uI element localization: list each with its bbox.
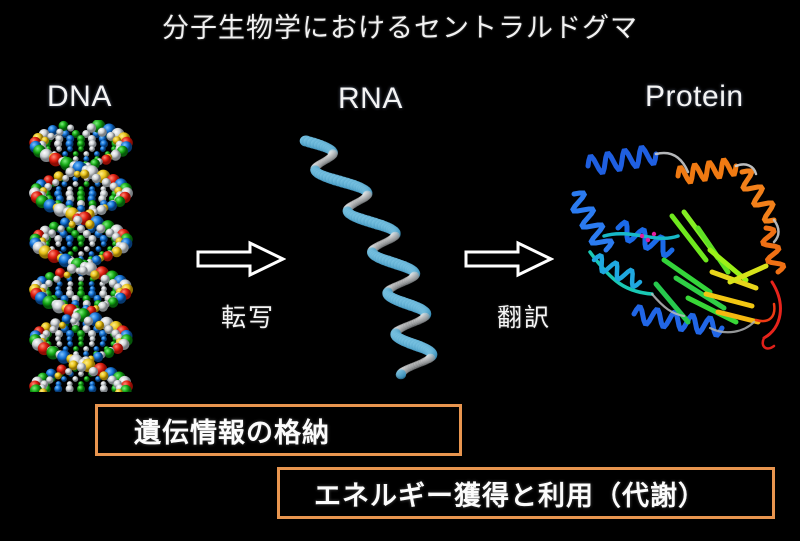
page-title: 分子生物学におけるセントラルドグマ	[0, 14, 800, 44]
protein-caption: Protein	[645, 80, 744, 114]
transcription-label: 転写	[221, 298, 275, 334]
callout-1-label: 遺伝情報の格納	[134, 411, 330, 450]
dna-caption: DNA	[47, 80, 112, 114]
transcription-arrow-icon	[196, 240, 286, 278]
translation-arrow-icon	[464, 240, 554, 278]
rna-caption: RNA	[338, 82, 403, 116]
callout-2-label: エネルギー獲得と利用（代謝）	[314, 474, 706, 513]
translation-label: 翻訳	[497, 298, 551, 334]
slide-canvas: 分子生物学におけるセントラルドグマ DNA 転写 RNA	[0, 0, 800, 541]
dna-double-helix-image	[10, 120, 152, 392]
callout-energy-metabolism: エネルギー獲得と利用（代謝）	[277, 467, 775, 519]
rna-single-strand-image	[288, 133, 448, 383]
protein-ribbon-image	[560, 132, 798, 382]
callout-genetic-information-storage: 遺伝情報の格納	[95, 404, 462, 456]
